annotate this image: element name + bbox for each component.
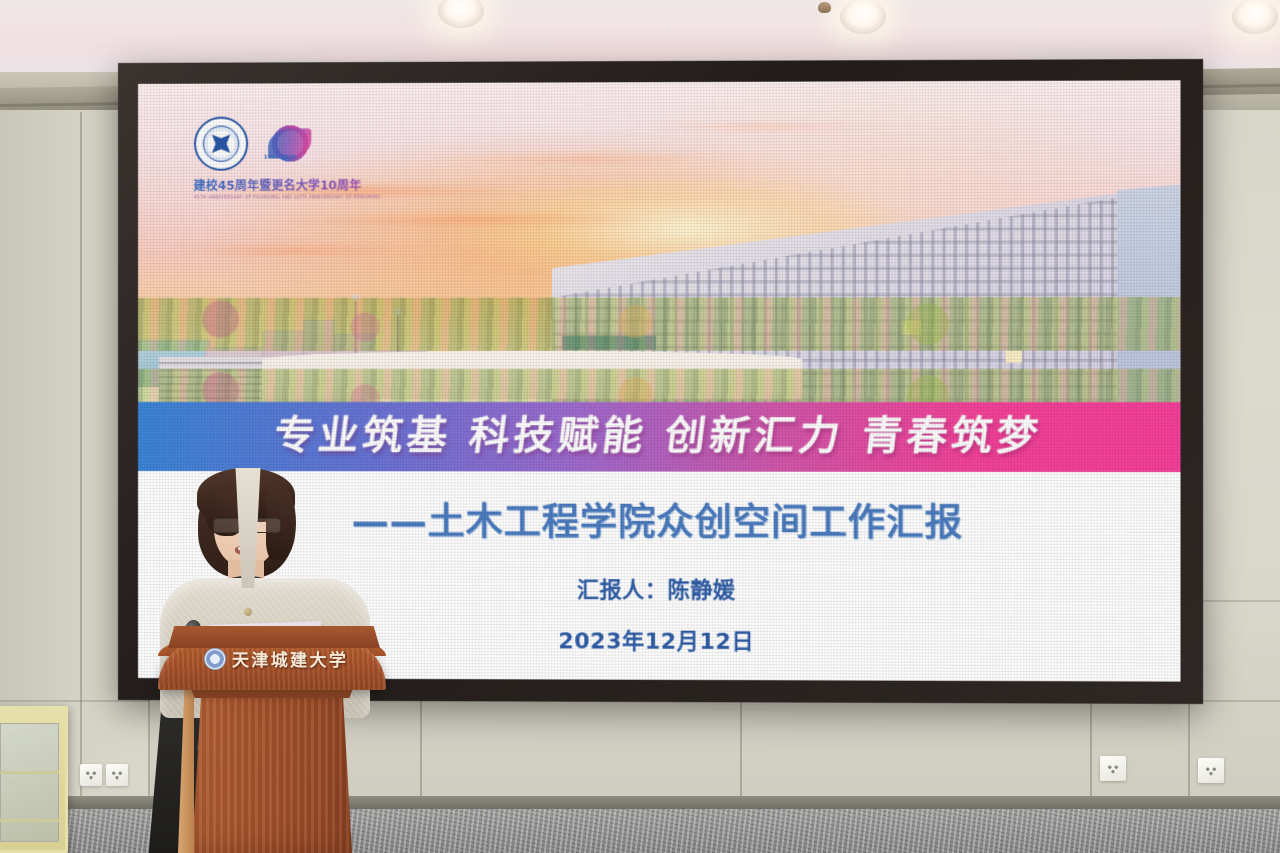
presentation-hall-scene: 专业筑基 科技赋能 创新汇力 青春筑梦 ——土木工程学院众创空间工作汇报 汇报人… — [0, 0, 1280, 853]
university-emblem-icon — [194, 116, 248, 170]
cabinet-glass-door — [0, 723, 59, 842]
podium-name-plate: 天津城建大学 — [232, 646, 348, 671]
campus-tree-belt — [138, 297, 1181, 351]
display-cabinet[interactable] — [0, 706, 68, 853]
anniversary-years-label: 1978-2023 — [264, 154, 296, 160]
outlet-holes-icon — [111, 771, 124, 780]
downlight-2 — [840, 0, 886, 34]
outlet-holes-icon — [1205, 766, 1218, 775]
podium-university-emblem-icon — [204, 648, 226, 670]
wall-seam — [80, 112, 82, 812]
cabinet-shelf — [0, 819, 59, 822]
anniversary-mark-icon: 1978-2023 — [262, 118, 318, 168]
glasses-lens-left — [213, 518, 241, 533]
slide-slogan-band: 专业筑基 科技赋能 创新汇力 青春筑梦 — [138, 402, 1181, 472]
podium-column — [192, 686, 352, 853]
slide-logo-group: 1978-2023 建校45周年暨更名大学10周年 45TH ANNIVERSA… — [194, 116, 442, 201]
wall-outlet-left-b[interactable] — [106, 764, 128, 786]
slide-slogan-text: 专业筑基 科技赋能 创新汇力 青春筑梦 — [272, 416, 1044, 457]
wall-outlet-left-a[interactable] — [80, 764, 102, 786]
anniversary-caption-en: 45TH ANNIVERSARY OF FOUNDING AND 10TH AN… — [194, 195, 442, 201]
wall-outlet-right-b[interactable] — [1198, 758, 1224, 783]
anniversary-caption-cn: 建校45周年暨更名大学10周年 — [194, 176, 442, 194]
podium-desktop — [168, 626, 380, 648]
cloud-streak — [614, 124, 907, 130]
smoke-detector-icon — [818, 2, 831, 13]
logo-row: 1978-2023 — [194, 116, 442, 171]
lit-window — [1006, 351, 1022, 363]
downlight-3 — [1232, 0, 1278, 34]
wall-outlet-right-a[interactable] — [1100, 756, 1126, 781]
outlet-holes-icon — [1107, 764, 1120, 773]
cloud-streak — [427, 155, 739, 162]
cloud-streak — [159, 247, 428, 253]
cabinet-shelf — [0, 771, 59, 774]
jacket-button — [244, 608, 252, 616]
outlet-holes-icon — [85, 771, 98, 780]
wall-seam-horizontal — [0, 700, 150, 702]
